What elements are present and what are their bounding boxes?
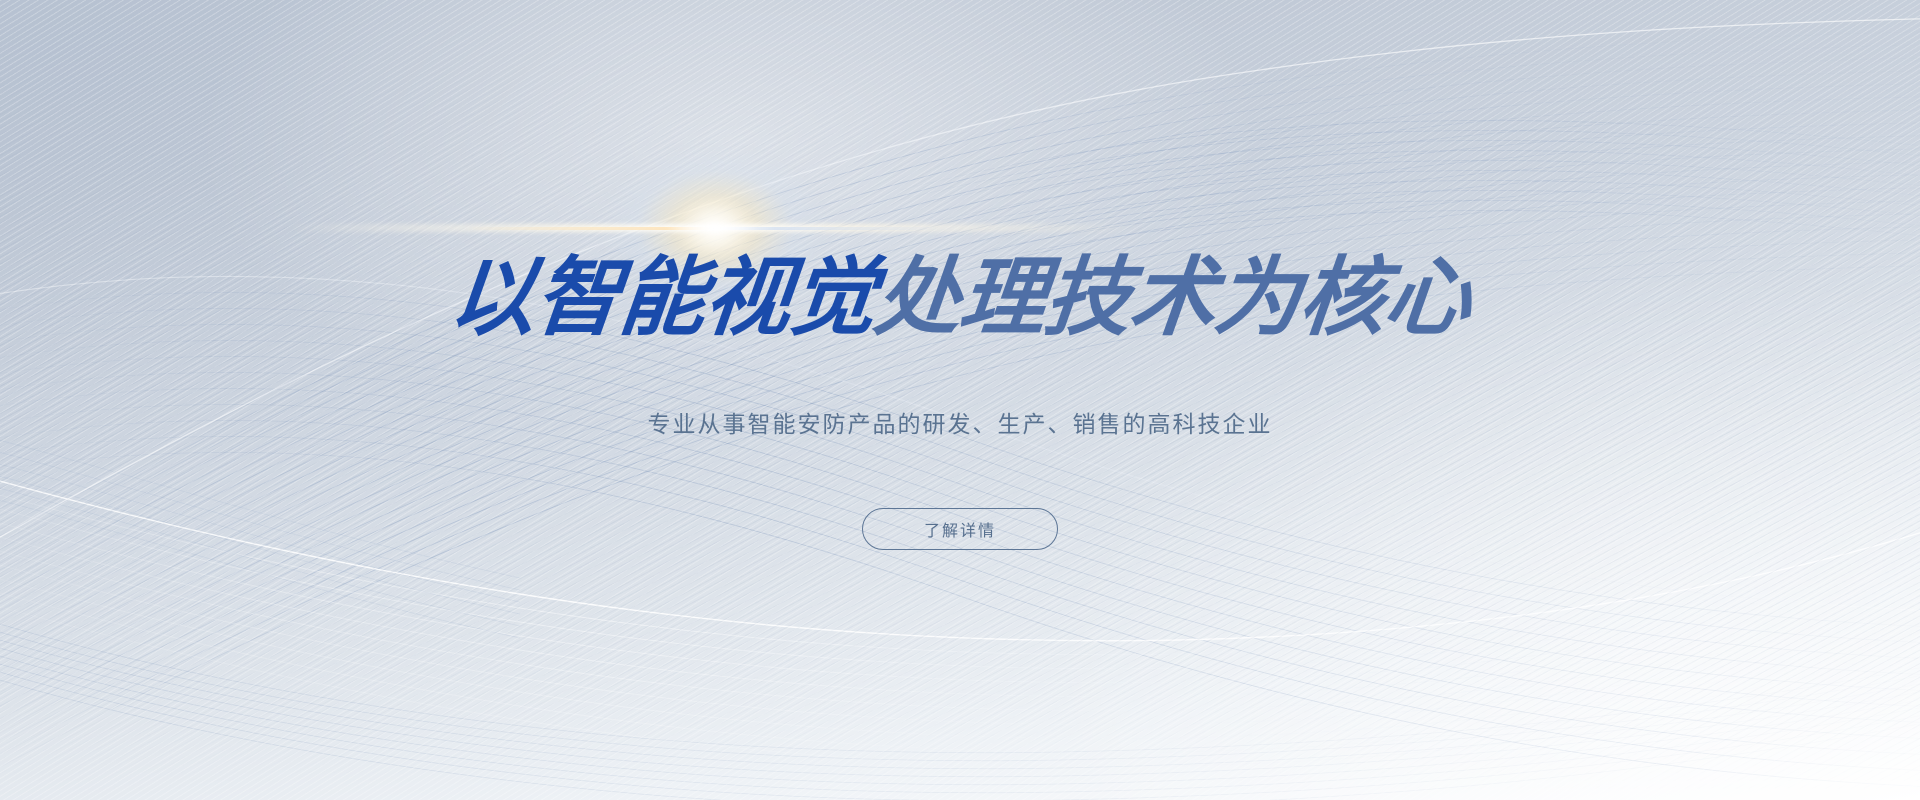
learn-more-button[interactable]: 了解详情 xyxy=(862,508,1058,550)
headline-muted-text: 处理技术为核心 xyxy=(870,255,1474,341)
hero-banner: 以智能视觉处理技术为核心 专业从事智能安防产品的研发、生产、销售的高科技企业 了… xyxy=(0,0,1920,800)
diagonal-hairline-texture xyxy=(0,0,1920,800)
page-title: 以智能视觉处理技术为核心 xyxy=(0,255,1920,341)
diagonal-hairline-texture-dark xyxy=(0,0,1920,800)
background-light-wash xyxy=(0,0,1920,800)
hero-content: 以智能视觉处理技术为核心 专业从事智能安防产品的研发、生产、销售的高科技企业 了… xyxy=(0,0,1920,800)
headline-highlight-text: 以智能视觉 xyxy=(445,255,879,341)
hero-subtitle: 专业从事智能安防产品的研发、生产、销售的高科技企业 xyxy=(0,405,1920,439)
wave-ribbons-decoration xyxy=(0,0,1920,800)
cta-container: 了解详情 xyxy=(0,508,1920,550)
